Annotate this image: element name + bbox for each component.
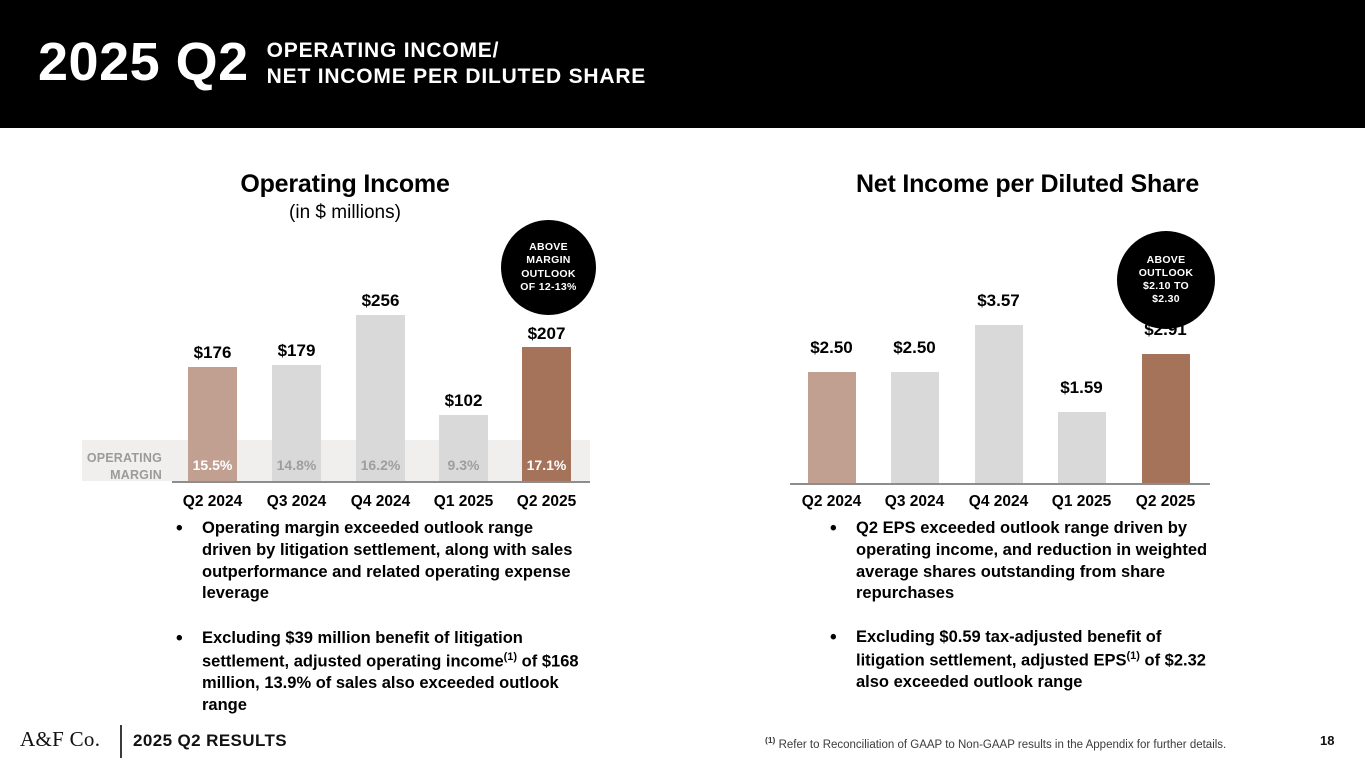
margin-label-q2-2025: 17.1% bbox=[512, 457, 581, 473]
operating-income-plot: OPERATING MARGIN $176 $179 $256 $102 $20… bbox=[0, 128, 690, 528]
page-number: 18 bbox=[1320, 733, 1334, 748]
value-label-operating-income-q1-2025: $102 bbox=[419, 391, 508, 411]
margin-label-q3-2024: 14.8% bbox=[262, 457, 331, 473]
operating-income-panel: Operating Income (in $ millions) OPERATI… bbox=[0, 128, 690, 718]
bar-eps-q2-2025 bbox=[1142, 354, 1190, 483]
category-label-operating-income-q2-2025: Q2 2025 bbox=[502, 493, 591, 511]
af-co-logo: A&F Co. bbox=[20, 727, 100, 752]
bullet-segment: Q2 EPS exceeded outlook range driven by … bbox=[856, 519, 1207, 602]
category-label-operating-income-q2-2024: Q2 2024 bbox=[168, 493, 257, 511]
list-item: • Excluding $39 million benefit of litig… bbox=[176, 628, 584, 717]
margin-label-q1-2025: 9.3% bbox=[429, 457, 498, 473]
margin-label-q2-2024: 15.5% bbox=[178, 457, 247, 473]
bullet-segment: Excluding $0.59 tax-adjusted benefit of … bbox=[856, 628, 1161, 669]
category-label-operating-income-q4-2024: Q4 2024 bbox=[336, 493, 425, 511]
operating-margin-outlook-badge: ABOVE MARGIN OUTLOOK OF 12-13% bbox=[501, 220, 596, 315]
margin-label-q4-2024: 16.2% bbox=[346, 457, 415, 473]
bullet-text-operating-margin: Operating margin exceeded outlook range … bbox=[202, 518, 584, 605]
operating-margin-row-label: OPERATING MARGIN bbox=[82, 450, 162, 484]
value-label-operating-income-q4-2024: $256 bbox=[336, 291, 425, 311]
bar-eps-q4-2024 bbox=[975, 325, 1023, 483]
slide-header-bar: 2025 Q2 OPERATING INCOME/ NET INCOME PER… bbox=[0, 0, 1365, 128]
value-label-operating-income-q2-2024: $176 bbox=[168, 343, 257, 363]
bullet-marker: • bbox=[176, 628, 202, 650]
value-label-operating-income-q2-2025: $207 bbox=[502, 324, 591, 344]
category-label-eps-q1-2025: Q1 2025 bbox=[1037, 493, 1126, 511]
bullet-segment: Operating margin exceeded outlook range … bbox=[202, 519, 572, 602]
bar-eps-q1-2025 bbox=[1058, 412, 1106, 483]
list-item: • Excluding $0.59 tax-adjusted benefit o… bbox=[830, 627, 1230, 694]
category-label-eps-q2-2024: Q2 2024 bbox=[787, 493, 876, 511]
footnote-marker-icon: (1) bbox=[765, 735, 775, 745]
bullet-text-q2-eps: Q2 EPS exceeded outlook range driven by … bbox=[856, 518, 1230, 605]
value-label-operating-income-q3-2024: $179 bbox=[252, 341, 341, 361]
value-label-eps-q3-2024: $2.50 bbox=[870, 338, 959, 358]
list-item: • Q2 EPS exceeded outlook range driven b… bbox=[830, 518, 1230, 605]
bullet-segment: Excluding $39 million benefit of litigat… bbox=[202, 629, 523, 670]
bullet-marker: • bbox=[830, 518, 856, 540]
net-income-plot: $2.50 $2.50 $3.57 $1.59 $2.91 Q2 2024 Q3… bbox=[690, 128, 1365, 528]
slide-header-content: 2025 Q2 OPERATING INCOME/ NET INCOME PER… bbox=[38, 34, 646, 89]
footnote-text: Refer to Reconciliation of GAAP to Non-G… bbox=[775, 739, 1226, 751]
value-label-eps-q2-2024: $2.50 bbox=[787, 338, 876, 358]
operating-income-bullets: • Operating margin exceeded outlook rang… bbox=[176, 518, 584, 737]
eps-outlook-badge: ABOVE OUTLOOK $2.10 TO $2.30 bbox=[1117, 231, 1215, 329]
category-label-eps-q3-2024: Q3 2024 bbox=[870, 493, 959, 511]
footnote-ref-icon: (1) bbox=[504, 651, 517, 663]
footer-divider bbox=[120, 725, 122, 758]
net-income-bullets: • Q2 EPS exceeded outlook range driven b… bbox=[830, 518, 1230, 714]
category-label-eps-q4-2024: Q4 2024 bbox=[954, 493, 1043, 511]
bullet-marker: • bbox=[830, 627, 856, 649]
net-income-axis-line bbox=[790, 483, 1210, 485]
value-label-eps-q1-2025: $1.59 bbox=[1037, 378, 1126, 398]
operating-income-axis-line bbox=[172, 481, 590, 483]
category-label-operating-income-q3-2024: Q3 2024 bbox=[252, 493, 341, 511]
bar-eps-q2-2024 bbox=[808, 372, 856, 483]
operating-margin-label-line2: MARGIN bbox=[110, 468, 162, 482]
value-label-eps-q4-2024: $3.57 bbox=[954, 291, 1043, 311]
list-item: • Operating margin exceeded outlook rang… bbox=[176, 518, 584, 605]
bar-eps-q3-2024 bbox=[891, 372, 939, 483]
footnote-ref-icon: (1) bbox=[1126, 650, 1139, 662]
category-label-operating-income-q1-2025: Q1 2025 bbox=[419, 493, 508, 511]
slide-subject-title: OPERATING INCOME/ NET INCOME PER DILUTED… bbox=[267, 38, 646, 89]
slide-quarter-title: 2025 Q2 bbox=[38, 35, 249, 89]
bullet-text-adjusted-eps: Excluding $0.59 tax-adjusted benefit of … bbox=[856, 627, 1230, 694]
operating-margin-label-line1: OPERATING bbox=[87, 451, 162, 465]
bullet-text-adjusted-operating-income: Excluding $39 million benefit of litigat… bbox=[202, 628, 584, 717]
net-income-per-diluted-share-panel: Net Income per Diluted Share $2.50 $2.50… bbox=[690, 128, 1365, 718]
footer-deck-title: 2025 Q2 RESULTS bbox=[133, 731, 287, 751]
bullet-marker: • bbox=[176, 518, 202, 540]
category-label-eps-q2-2025: Q2 2025 bbox=[1121, 493, 1210, 511]
footnote: (1) Refer to Reconciliation of GAAP to N… bbox=[765, 735, 1226, 751]
